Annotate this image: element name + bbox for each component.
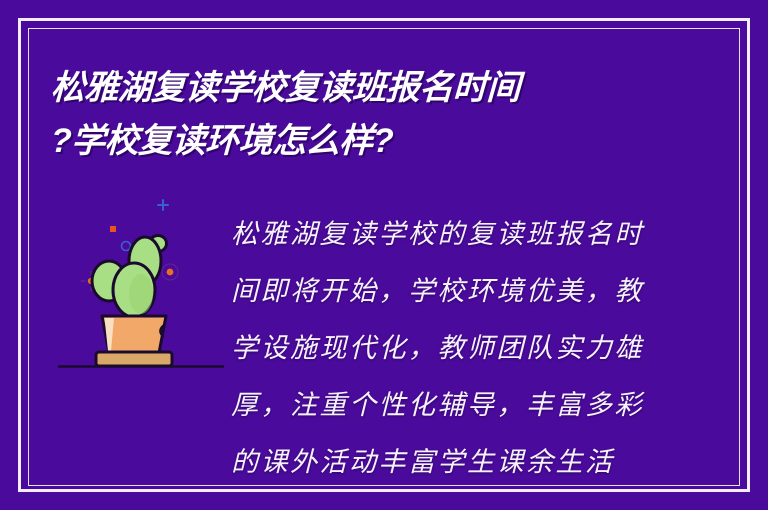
plant-pot-base	[96, 352, 172, 366]
blue-ring-dot-icon	[122, 242, 131, 251]
orange-square-dot-icon	[110, 226, 116, 232]
page-title-line-1: 松雅湖复读学校复读班报名时间	[50, 62, 672, 115]
cactus-body-shade	[129, 274, 153, 314]
body-line-3: 学设施现代化，教师团队实力雄	[231, 320, 656, 377]
poster-canvas: 松雅湖复读学校复读班报名时间 ?学校复读环境怎么样?	[0, 0, 768, 510]
body-line-5: 的课外活动丰富学生课余生活	[231, 434, 656, 491]
blue-plus-sparkle-icon	[158, 200, 168, 210]
body-line-2: 间即将开始，学校环境优美，教	[231, 263, 656, 320]
page-title: 松雅湖复读学校复读班报名时间 ?学校复读环境怎么样?	[50, 62, 670, 168]
potted-cactus-illustration	[58, 188, 224, 373]
page-title-line-2: ?学校复读环境怎么样?	[50, 115, 672, 168]
body-line-1: 松雅湖复读学校的复读班报名时	[231, 206, 656, 263]
orange-ring-dot-icon	[162, 264, 178, 280]
body-line-4: 厚，注重个性化辅导，丰富多彩	[231, 377, 656, 434]
body-paragraph: 松雅湖复读学校的复读班报名时 间即将开始，学校环境优美，教 学设施现代化，教师团…	[231, 206, 656, 491]
